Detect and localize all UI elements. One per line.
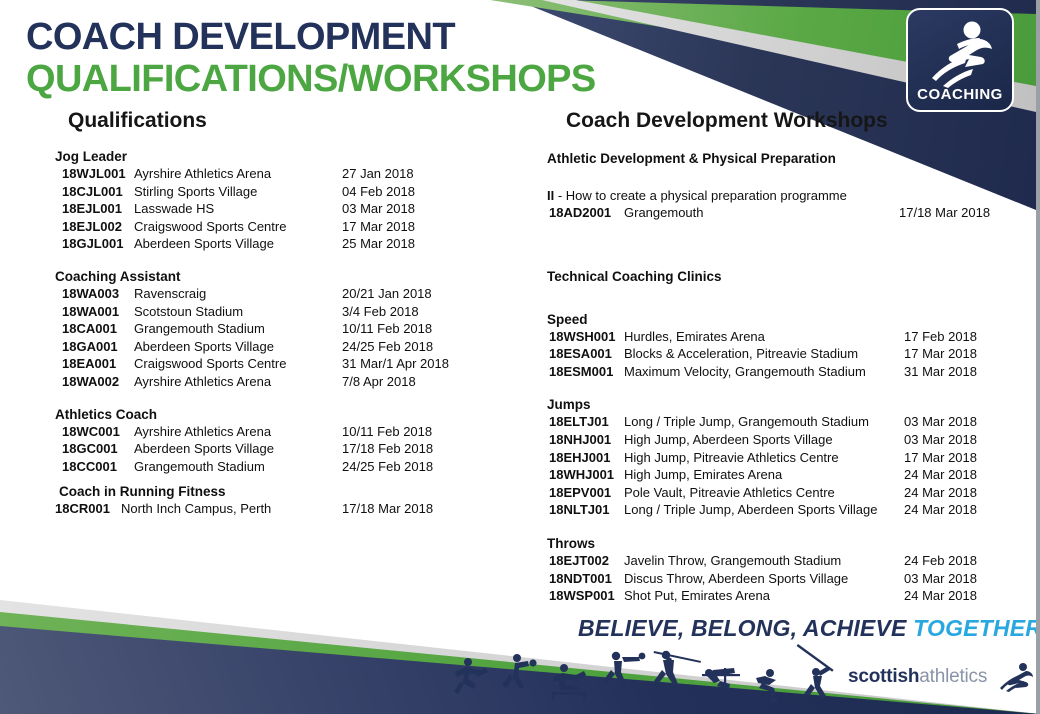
javelin-icon: [654, 651, 701, 686]
coaching-badge-label: COACHING: [908, 86, 1012, 103]
course-venue: Aberdeen Sports Village: [134, 235, 342, 253]
course-code: 18EJT002: [549, 552, 624, 570]
course-venue: Blocks & Acceleration, Pitreavie Stadium: [624, 345, 904, 363]
course-code: 18EJL002: [62, 218, 134, 236]
course-date: 24 Mar 2018: [904, 587, 977, 605]
course-code: 18GJL001: [62, 235, 134, 253]
course-date: 10/11 Feb 2018: [342, 320, 432, 338]
course-code: 18WJL001: [62, 165, 134, 183]
course-date: 04 Feb 2018: [342, 183, 415, 201]
group-speed: Speed 18WSH001 Hurdles, Emirates Arena 1…: [543, 311, 1013, 381]
group-title: Athletic Development & Physical Preparat…: [547, 150, 1013, 167]
course-date: 24/25 Feb 2018: [342, 458, 433, 476]
course-code: 18CC001: [62, 458, 134, 476]
course-row[interactable]: 18EJT002 Javelin Throw, Grangemouth Stad…: [543, 552, 1013, 570]
course-venue: Ravenscraig: [134, 285, 342, 303]
group-throws: Throws 18EJT002 Javelin Throw, Grangemou…: [543, 535, 1013, 605]
course-row[interactable]: 18GJL001 Aberdeen Sports Village 25 Mar …: [55, 235, 495, 253]
hurdler-icon: [552, 664, 586, 700]
course-code: 18EHJ001: [549, 449, 624, 467]
course-date: 3/4 Feb 2018: [342, 303, 419, 321]
course-venue: Lasswade HS: [134, 200, 342, 218]
group-title: Coach in Running Fitness: [59, 483, 495, 500]
course-date: 24 Feb 2018: [904, 552, 977, 570]
running-figure-icon: [925, 18, 999, 92]
course-date: 7/8 Apr 2018: [342, 373, 416, 391]
group-title: Technical Coaching Clinics: [547, 268, 1013, 285]
course-code: 18ESA001: [549, 345, 624, 363]
course-code: 18CJL001: [62, 183, 134, 201]
course-row[interactable]: 18NDT001 Discus Throw, Aberdeen Sports V…: [543, 570, 1013, 588]
shot-put-icon: [502, 654, 537, 689]
course-row[interactable]: 18EJL001 Lasswade HS 03 Mar 2018: [55, 200, 495, 218]
course-row[interactable]: 18ESA001 Blocks & Acceleration, Pitreavi…: [543, 345, 1013, 363]
course-date: 24 Mar 2018: [904, 484, 977, 502]
course-row[interactable]: 18ELTJ01 Long / Triple Jump, Grangemouth…: [543, 413, 1013, 431]
coaching-logo-badge: COACHING: [906, 8, 1014, 112]
group-athletics-coach: Athletics Coach 18WC001 Ayrshire Athleti…: [55, 406, 495, 476]
group-title: Speed: [547, 311, 1013, 328]
course-venue: High Jump, Pitreavie Athletics Centre: [624, 449, 904, 467]
course-date: 17/18 Mar 2018: [342, 500, 433, 518]
course-venue: Aberdeen Sports Village: [134, 338, 342, 356]
course-code: 18WSP001: [549, 587, 624, 605]
high-jump-icon: [702, 668, 740, 689]
tagline: BELIEVE, BELONG, ACHIEVE TOGETHER: [578, 615, 1040, 642]
course-venue: Long / Triple Jump, Grangemouth Stadium: [624, 413, 904, 431]
workshops-list: Athletic Development & Physical Preparat…: [543, 150, 1013, 621]
course-venue: Hurdles, Emirates Arena: [624, 328, 904, 346]
course-date: 27 Jan 2018: [342, 165, 414, 183]
group-title: Jog Leader: [55, 148, 495, 165]
course-code: 18WC001: [62, 423, 134, 441]
course-row[interactable]: 18WHJ001 High Jump, Emirates Arena 24 Ma…: [543, 466, 1013, 484]
course-venue: Stirling Sports Village: [134, 183, 342, 201]
course-code: 18ESM001: [549, 363, 624, 381]
group-title: Throws: [547, 535, 1013, 552]
group-title: Jumps: [547, 396, 1013, 413]
course-row[interactable]: 18CA001 Grangemouth Stadium 10/11 Feb 20…: [55, 320, 495, 338]
course-date: 17 Mar 2018: [904, 345, 977, 363]
slide-canvas: COACH DEVELOPMENT QUALIFICATIONS/WORKSHO…: [0, 0, 1040, 714]
course-code: 18AD2001: [549, 204, 624, 222]
course-venue: Aberdeen Sports Village: [134, 440, 342, 458]
pole-vault-icon: [797, 644, 834, 699]
course-row[interactable]: 18WSH001 Hurdles, Emirates Arena 17 Feb …: [543, 328, 1013, 346]
course-row[interactable]: 18NLTJ01 Long / Triple Jump, Aberdeen Sp…: [543, 501, 1013, 519]
course-venue: Craigswood Sports Centre: [134, 218, 342, 236]
course-code: 18NHJ001: [549, 431, 624, 449]
group-jog-leader: Jog Leader 18WJL001 Ayrshire Athletics A…: [55, 148, 495, 253]
course-code: 18ELTJ01: [549, 413, 624, 431]
qualifications-heading: Qualifications: [68, 109, 207, 133]
course-venue: High Jump, Emirates Arena: [624, 466, 904, 484]
spacer: [543, 167, 1013, 187]
course-venue: Ayrshire Athletics Arena: [134, 165, 342, 183]
course-row[interactable]: 18CC001 Grangemouth Stadium 24/25 Feb 20…: [55, 458, 495, 476]
course-code: 18GC001: [62, 440, 134, 458]
course-row[interactable]: 18EPV001 Pole Vault, Pitreavie Athletics…: [543, 484, 1013, 502]
course-date: 31 Mar 2018: [904, 363, 977, 381]
course-row[interactable]: 18WJL001 Ayrshire Athletics Arena 27 Jan…: [55, 165, 495, 183]
title-line-2: QUALIFICATIONS/WORKSHOPS: [26, 58, 596, 100]
hammer-throw-icon: [603, 652, 645, 687]
course-row[interactable]: 18WA001 Scotstoun Stadium 3/4 Feb 2018: [55, 303, 495, 321]
course-code: 18CR001: [55, 500, 121, 518]
course-date: 03 Mar 2018: [342, 200, 415, 218]
logo-text-scottish: scottish: [848, 666, 919, 687]
course-date: 17 Mar 2018: [342, 218, 415, 236]
running-figure-icon: [998, 662, 1034, 692]
tagline-cyan: TOGETHER: [913, 615, 1040, 641]
group-coaching-assistant: Coaching Assistant 18WA003 Ravenscraig 2…: [55, 268, 495, 391]
course-row[interactable]: 18WC001 Ayrshire Athletics Arena 10/11 F…: [55, 423, 495, 441]
group-technical-clinics: Technical Coaching Clinics: [543, 268, 1013, 285]
course-row[interactable]: 18CJL001 Stirling Sports Village 04 Feb …: [55, 183, 495, 201]
athlete-pictogram-strip: [450, 634, 850, 704]
course-date: 24 Mar 2018: [904, 466, 977, 484]
course-date: 17/18 Feb 2018: [342, 440, 433, 458]
course-date: 17/18 Mar 2018: [899, 204, 990, 222]
long-jump-icon: [756, 669, 778, 703]
course-row[interactable]: 18WA002 Ayrshire Athletics Arena 7/8 Apr…: [55, 373, 495, 391]
course-row[interactable]: 18WA003 Ravenscraig 20/21 Jan 2018: [55, 285, 495, 303]
course-venue: Pole Vault, Pitreavie Athletics Centre: [624, 484, 904, 502]
course-date: 17 Feb 2018: [904, 328, 977, 346]
course-venue: Grangemouth Stadium: [134, 320, 342, 338]
scottishathletics-logo: scottishathletics: [848, 662, 1034, 694]
title-line-1: COACH DEVELOPMENT: [26, 16, 596, 58]
course-date: 24/25 Feb 2018: [342, 338, 433, 356]
course-venue: Shot Put, Emirates Arena: [624, 587, 904, 605]
course-code: 18WA001: [62, 303, 134, 321]
course-row[interactable]: 18NHJ001 High Jump, Aberdeen Sports Vill…: [543, 431, 1013, 449]
course-row[interactable]: 18WSP001 Shot Put, Emirates Arena 24 Mar…: [543, 587, 1013, 605]
group-title: Coaching Assistant: [55, 268, 495, 285]
course-date: 25 Mar 2018: [342, 235, 415, 253]
course-code: 18GA001: [62, 338, 134, 356]
course-code: 18WHJ001: [549, 466, 624, 484]
course-row[interactable]: 18GC001 Aberdeen Sports Village 17/18 Fe…: [55, 440, 495, 458]
course-venue: High Jump, Aberdeen Sports Village: [624, 431, 904, 449]
course-code: 18WA002: [62, 373, 134, 391]
course-row[interactable]: 18ESM001 Maximum Velocity, Grangemouth S…: [543, 363, 1013, 381]
page-title: COACH DEVELOPMENT QUALIFICATIONS/WORKSHO…: [26, 16, 596, 100]
course-date: 24 Mar 2018: [904, 501, 977, 519]
course-date: 31 Mar/1 Apr 2018: [342, 355, 449, 373]
group-title: Athletics Coach: [55, 406, 495, 423]
course-row[interactable]: 18GA001 Aberdeen Sports Village 24/25 Fe…: [55, 338, 495, 356]
sprinter-icon: [454, 658, 488, 694]
course-venue: Maximum Velocity, Grangemouth Stadium: [624, 363, 904, 381]
spacer: [543, 238, 1013, 268]
course-venue: North Inch Campus, Perth: [121, 500, 342, 518]
group-jumps: Jumps 18ELTJ01 Long / Triple Jump, Grang…: [543, 396, 1013, 519]
group-athletic-development: Athletic Development & Physical Preparat…: [543, 150, 1013, 222]
course-code: 18NLTJ01: [549, 501, 624, 519]
course-venue: Craigswood Sports Centre: [134, 355, 342, 373]
course-date: 20/21 Jan 2018: [342, 285, 432, 303]
spacer: [543, 301, 1013, 311]
group-coach-in-running-fitness: Coach in Running Fitness 18CR001 North I…: [55, 483, 495, 518]
course-venue: Grangemouth Stadium: [134, 458, 342, 476]
logo-text-athletics: athletics: [919, 666, 987, 687]
course-row[interactable]: 18EA001 Craigswood Sports Centre 31 Mar/…: [55, 355, 495, 373]
course-date: 17 Mar 2018: [904, 449, 977, 467]
course-row[interactable]: 18CR001 North Inch Campus, Perth 17/18 M…: [55, 500, 495, 518]
course-code: 18WSH001: [549, 328, 624, 346]
course-code: 18EA001: [62, 355, 134, 373]
course-date: 03 Mar 2018: [904, 413, 977, 431]
workshops-heading: Coach Development Workshops: [566, 109, 888, 133]
course-venue: Grangemouth: [624, 204, 899, 222]
course-date: 03 Mar 2018: [904, 570, 977, 588]
course-venue: Ayrshire Athletics Arena: [134, 423, 342, 441]
course-row[interactable]: 18AD2001 Grangemouth 17/18 Mar 2018: [543, 204, 1013, 222]
course-venue: Discus Throw, Aberdeen Sports Village: [624, 570, 904, 588]
course-date: 10/11 Feb 2018: [342, 423, 432, 441]
course-code: 18EPV001: [549, 484, 624, 502]
course-row[interactable]: 18EJL002 Craigswood Sports Centre 17 Mar…: [55, 218, 495, 236]
tagline-dark: BELIEVE, BELONG, ACHIEVE: [578, 615, 907, 641]
course-venue: Javelin Throw, Grangemouth Stadium: [624, 552, 904, 570]
course-row[interactable]: 18EHJ001 High Jump, Pitreavie Athletics …: [543, 449, 1013, 467]
workshop-note: II - How to create a physical preparatio…: [547, 187, 1013, 204]
course-code: 18EJL001: [62, 200, 134, 218]
course-code: 18NDT001: [549, 570, 624, 588]
course-code: 18WA003: [62, 285, 134, 303]
course-code: 18CA001: [62, 320, 134, 338]
course-date: 03 Mar 2018: [904, 431, 977, 449]
course-venue: Ayrshire Athletics Arena: [134, 373, 342, 391]
course-venue: Scotstoun Stadium: [134, 303, 342, 321]
course-venue: Long / Triple Jump, Aberdeen Sports Vill…: [624, 501, 904, 519]
qualifications-list: Jog Leader 18WJL001 Ayrshire Athletics A…: [55, 148, 495, 533]
workshop-note-rest: - How to create a physical preparation p…: [554, 188, 847, 203]
